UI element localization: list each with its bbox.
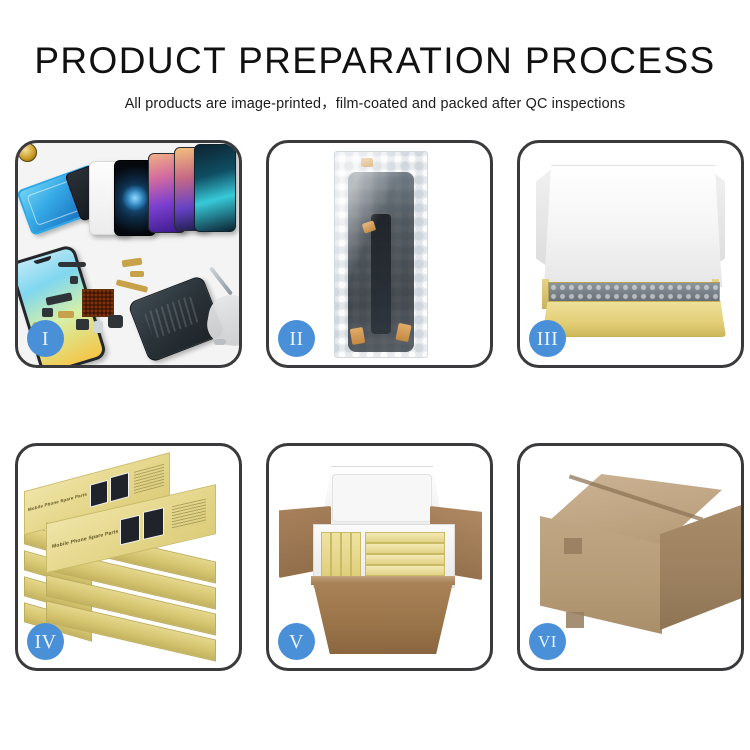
chip-array-part — [82, 289, 114, 317]
styrofoam-lid — [321, 466, 443, 530]
flex-cable-part-2 — [130, 271, 144, 277]
box-thumb-back-2 — [110, 472, 129, 502]
step-panel-1: I — [15, 140, 242, 368]
vibration-motor-part — [18, 143, 37, 162]
step-badge-2: II — [278, 320, 315, 357]
product-preparation-process-infographic: PRODUCT PREPARATION PROCESS All products… — [0, 0, 750, 750]
step-panel-3: III — [517, 140, 744, 368]
speaker-part — [58, 262, 86, 267]
packed-box-flat-2 — [365, 543, 445, 554]
box-thumb-back-1 — [90, 480, 108, 508]
small-metal-part — [214, 339, 226, 345]
step-panel-6: VI — [517, 443, 744, 671]
step-badge-5: V — [278, 623, 315, 660]
flex-cable-part-3 — [58, 311, 74, 318]
packed-box-flat-3 — [365, 554, 445, 565]
yellow-box-front — [542, 301, 726, 337]
step-badge-6: VI — [529, 623, 566, 660]
box-thumb-front-1 — [120, 515, 140, 546]
box-white-lid — [544, 165, 722, 287]
packed-box-flat-1 — [365, 532, 445, 543]
button-part — [108, 315, 123, 328]
packed-box-flat-4 — [365, 565, 445, 576]
page-title: PRODUCT PREPARATION PROCESS — [0, 42, 750, 79]
carton-tab-lower — [566, 612, 584, 628]
packed-box-3 — [341, 532, 351, 582]
packed-box-4 — [351, 532, 361, 582]
box-thumb-front-2 — [143, 507, 164, 540]
carton-front-panel — [313, 582, 453, 654]
step-badge-1: I — [27, 320, 64, 357]
flex-cable-part-4 — [116, 279, 149, 293]
step-badge-3: III — [529, 320, 566, 357]
step-badge-4: IV — [27, 623, 64, 660]
teal-gradient-phone — [194, 144, 236, 232]
page-subtitle: All products are image-printed，film-coat… — [0, 92, 750, 113]
bubble-wrap-bag — [334, 151, 428, 358]
process-steps-grid: I II — [15, 140, 735, 685]
connector-part-2 — [42, 308, 53, 317]
screw-set-part — [70, 276, 78, 284]
tape-piece-bottom-right — [395, 323, 411, 342]
packed-box-2 — [331, 532, 341, 582]
packed-box-1 — [321, 532, 331, 582]
camera-module-part — [76, 319, 89, 330]
step-panel-5: V — [266, 443, 493, 671]
flex-cable-part-1 — [122, 258, 143, 268]
header: PRODUCT PREPARATION PROCESS All products… — [0, 0, 750, 113]
screen-flex-cable — [371, 214, 391, 334]
tape-piece-top — [361, 158, 373, 167]
sim-tray-part — [93, 321, 103, 333]
step-panel-2: II — [266, 140, 493, 368]
tweezers-tool — [209, 266, 233, 295]
step-panel-4: Mobile Phone Spare Parts Mobile Phone Sp… — [15, 443, 242, 671]
carton-tab-upper — [564, 538, 582, 554]
tape-piece-bottom-left — [349, 327, 365, 345]
